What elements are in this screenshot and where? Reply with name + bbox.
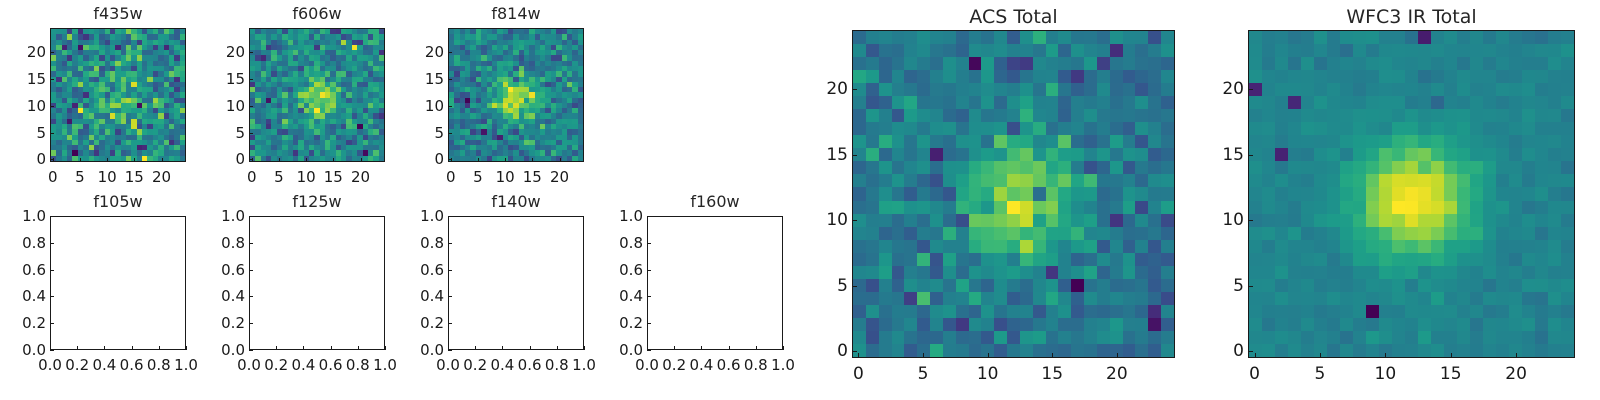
x-tick-mark [923,353,924,358]
y-tick-label: 10 [806,210,848,230]
x-tick-label: 5 [1315,364,1326,384]
y-tick-label: 5 [203,124,245,142]
y-tick-mark [249,296,253,297]
y-tick-label: 15 [4,70,46,88]
x-tick-label: 15 [125,168,144,186]
y-tick-mark [448,296,452,297]
x-tick-mark [134,158,135,162]
x-tick-label: 5 [274,168,284,186]
y-tick-label: 20 [806,79,848,99]
x-tick-label: 20 [1505,364,1527,384]
y-tick-mark [852,155,857,156]
y-tick-mark [50,216,54,217]
y-tick-label: 1.0 [203,207,245,225]
y-tick-label: 20 [1202,79,1244,99]
y-tick-label: 5 [806,276,848,296]
y-tick-mark [852,286,857,287]
x-tick-label: 0.6 [319,356,343,374]
y-tick-label: 0.4 [4,287,46,305]
heatmap-image [250,29,384,161]
y-tick-label: 15 [1202,145,1244,165]
x-tick-label: 15 [1440,364,1462,384]
y-tick-mark [249,216,253,217]
plot-area[interactable] [448,216,584,350]
x-tick-mark [358,346,359,350]
x-tick-mark [502,346,503,350]
x-tick-mark [701,346,702,350]
y-tick-mark [249,323,253,324]
x-tick-mark [361,158,362,162]
heatmap-image [51,29,185,161]
x-tick-mark [1117,353,1118,358]
x-tick-label: 15 [1041,364,1063,384]
y-tick-label: 10 [4,97,46,115]
panel-title: f814w [448,4,584,23]
y-tick-label: 0.6 [203,261,245,279]
x-tick-label: 0.6 [518,356,542,374]
heatmap-image [449,29,583,161]
y-tick-mark [448,323,452,324]
x-tick-mark [331,346,332,350]
y-tick-label: 0 [402,150,444,168]
x-tick-mark [674,346,675,350]
y-tick-mark [249,79,253,80]
heatmap-image [1249,31,1574,357]
y-tick-mark [852,351,857,352]
panel-title: f160w [647,192,783,211]
panel-acs_total: ACS Total0510152005101520 [806,4,1175,392]
x-tick-label: 10 [98,168,117,186]
y-tick-mark [249,133,253,134]
y-tick-label: 0.2 [402,314,444,332]
x-tick-label: 0.6 [717,356,741,374]
plot-area[interactable] [50,216,186,350]
y-tick-label: 1.0 [601,207,643,225]
y-tick-label: 15 [203,70,245,88]
plot-area[interactable] [249,216,385,350]
y-tick-mark [249,350,253,351]
panel-title: ACS Total [852,6,1175,28]
plot-area[interactable] [1248,30,1575,358]
x-tick-mark [107,158,108,162]
x-tick-label: 20 [1106,364,1128,384]
x-tick-label: 0.2 [65,356,89,374]
y-tick-mark [50,159,54,160]
x-tick-label: 1.0 [174,356,198,374]
panel-f160w: f160w0.00.20.40.60.81.00.00.20.40.60.81.… [601,190,783,384]
panel-f125w: f125w0.00.20.40.60.81.00.00.20.40.60.81.… [203,190,385,384]
x-tick-mark [333,158,334,162]
x-tick-label: 15 [324,168,343,186]
panel-wfc3_ir_total: WFC3 IR Total0510152005101520 [1202,4,1575,392]
y-tick-label: 0.8 [402,234,444,252]
x-tick-mark [530,346,531,350]
plot-area[interactable] [50,28,186,162]
x-tick-label: 20 [351,168,370,186]
x-tick-mark [475,346,476,350]
x-tick-mark [276,346,277,350]
x-tick-mark [756,346,757,350]
y-tick-mark [448,243,452,244]
x-tick-label: 5 [918,364,929,384]
y-tick-mark [1248,351,1253,352]
x-tick-mark [729,346,730,350]
y-tick-mark [448,216,452,217]
y-tick-label: 0.0 [4,341,46,359]
y-tick-mark [249,243,253,244]
y-tick-mark [647,296,651,297]
x-tick-mark [478,158,479,162]
x-tick-mark [505,158,506,162]
x-tick-label: 0.6 [120,356,144,374]
x-tick-mark [186,346,187,350]
x-tick-mark [532,158,533,162]
x-tick-label: 0 [446,168,456,186]
y-tick-mark [448,270,452,271]
y-tick-label: 0.2 [4,314,46,332]
y-tick-mark [249,52,253,53]
x-tick-mark [584,346,585,350]
x-tick-label: 0.2 [463,356,487,374]
y-tick-mark [448,350,452,351]
y-tick-label: 10 [203,97,245,115]
x-tick-label: 20 [550,168,569,186]
y-tick-mark [1248,220,1253,221]
panel-title: f435w [50,4,186,23]
plot-area[interactable] [249,28,385,162]
x-tick-mark [988,353,989,358]
panel-f105w: f105w0.00.20.40.60.81.00.00.20.40.60.81.… [4,190,186,384]
panel-title: f125w [249,192,385,211]
y-tick-mark [50,350,54,351]
x-tick-mark [1516,353,1517,358]
y-tick-label: 0.4 [203,287,245,305]
x-tick-mark [77,346,78,350]
y-tick-label: 0.4 [601,287,643,305]
x-tick-mark [1255,353,1256,358]
y-tick-mark [50,52,54,53]
y-tick-mark [647,270,651,271]
y-tick-label: 0.2 [203,314,245,332]
y-tick-mark [448,133,452,134]
x-tick-label: 5 [75,168,85,186]
y-tick-label: 5 [402,124,444,142]
y-tick-label: 15 [806,145,848,165]
panel-f814w: f814w0510152005101520 [402,2,584,196]
heatmap-image [853,31,1174,357]
x-tick-mark [560,158,561,162]
x-tick-label: 5 [473,168,483,186]
y-tick-mark [50,270,54,271]
y-tick-label: 5 [4,124,46,142]
y-tick-label: 10 [402,97,444,115]
y-tick-label: 20 [4,43,46,61]
x-tick-label: 1.0 [572,356,596,374]
y-tick-label: 0.0 [203,341,245,359]
x-tick-label: 0.4 [291,356,315,374]
x-tick-mark [1385,353,1386,358]
y-tick-label: 0 [4,150,46,168]
x-tick-mark [858,353,859,358]
y-tick-label: 0 [203,150,245,168]
y-tick-label: 0.6 [601,261,643,279]
x-tick-label: 0.8 [545,356,569,374]
y-tick-mark [448,159,452,160]
x-tick-label: 0.8 [346,356,370,374]
y-tick-label: 0.0 [601,341,643,359]
x-tick-label: 0.8 [744,356,768,374]
plot-area[interactable] [647,216,783,350]
x-tick-label: 0.4 [92,356,116,374]
y-tick-label: 20 [203,43,245,61]
x-tick-label: 0.8 [147,356,171,374]
y-tick-mark [1248,155,1253,156]
plot-area[interactable] [448,28,584,162]
y-tick-mark [852,220,857,221]
y-tick-label: 10 [1202,210,1244,230]
x-tick-label: 0.4 [490,356,514,374]
x-tick-label: 10 [977,364,999,384]
y-tick-mark [448,106,452,107]
x-tick-label: 0 [853,364,864,384]
x-tick-label: 0 [247,168,257,186]
y-tick-label: 0 [1202,341,1244,361]
y-tick-mark [50,133,54,134]
x-tick-mark [159,346,160,350]
y-tick-label: 1.0 [4,207,46,225]
y-tick-label: 0.4 [402,287,444,305]
x-tick-label: 20 [152,168,171,186]
x-tick-label: 1.0 [373,356,397,374]
y-tick-label: 0.8 [203,234,245,252]
y-tick-mark [249,159,253,160]
plot-area[interactable] [852,30,1175,358]
x-tick-mark [279,158,280,162]
y-tick-mark [50,296,54,297]
y-tick-mark [647,216,651,217]
x-tick-mark [1451,353,1452,358]
y-tick-mark [50,106,54,107]
y-tick-label: 0.2 [601,314,643,332]
x-tick-mark [104,346,105,350]
x-tick-label: 15 [523,168,542,186]
x-tick-label: 0 [48,168,58,186]
x-tick-label: 1.0 [771,356,795,374]
y-tick-mark [50,323,54,324]
y-tick-mark [647,350,651,351]
panel-f606w: f606w0510152005101520 [203,2,385,196]
x-tick-label: 0.2 [264,356,288,374]
y-tick-mark [249,106,253,107]
panel-title: f105w [50,192,186,211]
panel-title: f140w [448,192,584,211]
y-tick-label: 20 [402,43,444,61]
y-tick-label: 0.6 [402,261,444,279]
y-tick-mark [1248,89,1253,90]
x-tick-mark [162,158,163,162]
x-tick-label: 10 [496,168,515,186]
panel-f435w: f435w0510152005101520 [4,2,186,196]
x-tick-mark [303,346,304,350]
y-tick-mark [50,243,54,244]
y-tick-label: 0.8 [601,234,643,252]
x-tick-mark [1320,353,1321,358]
y-tick-mark [1248,286,1253,287]
y-tick-mark [50,79,54,80]
y-tick-mark [249,270,253,271]
y-tick-label: 5 [1202,276,1244,296]
y-tick-mark [448,52,452,53]
x-tick-label: 0.2 [662,356,686,374]
x-tick-mark [80,158,81,162]
panel-title: WFC3 IR Total [1248,6,1575,28]
x-tick-label: 10 [1375,364,1397,384]
panel-f140w: f140w0.00.20.40.60.81.00.00.20.40.60.81.… [402,190,584,384]
x-tick-mark [557,346,558,350]
y-tick-mark [647,323,651,324]
x-tick-label: 0.4 [689,356,713,374]
x-tick-label: 10 [297,168,316,186]
y-tick-mark [448,79,452,80]
panel-title: f606w [249,4,385,23]
y-tick-label: 1.0 [402,207,444,225]
x-tick-mark [132,346,133,350]
y-tick-label: 0 [806,341,848,361]
y-tick-label: 0.8 [4,234,46,252]
y-tick-mark [852,89,857,90]
y-tick-mark [647,243,651,244]
x-tick-mark [385,346,386,350]
y-tick-label: 15 [402,70,444,88]
x-tick-mark [1052,353,1053,358]
x-tick-mark [783,346,784,350]
y-tick-label: 0.0 [402,341,444,359]
x-tick-mark [306,158,307,162]
x-tick-label: 0 [1249,364,1260,384]
y-tick-label: 0.6 [4,261,46,279]
